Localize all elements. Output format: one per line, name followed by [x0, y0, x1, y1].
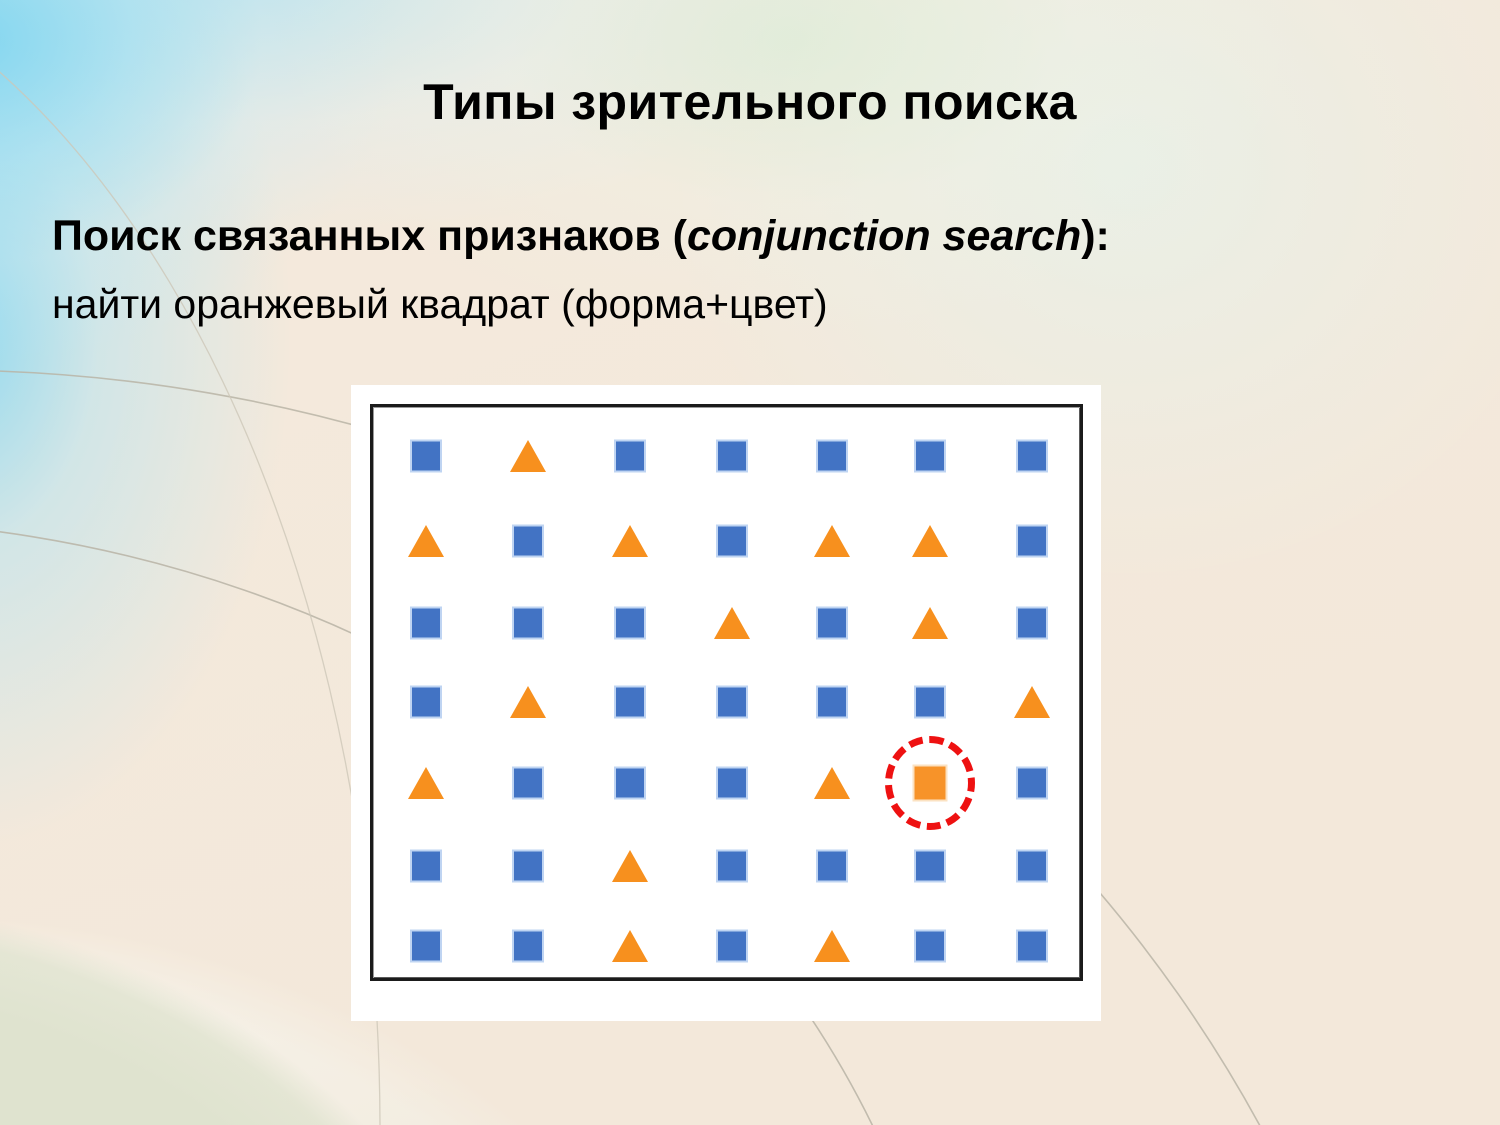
distractor-blue-square-icon[interactable]	[916, 852, 944, 881]
stimulus-panel	[351, 385, 1101, 1021]
distractor-blue-square-icon[interactable]	[718, 932, 746, 961]
stimulus-grid	[373, 407, 1080, 978]
stimulus-frame	[370, 404, 1083, 981]
distractor-blue-square-icon[interactable]	[412, 932, 440, 961]
distractor-blue-square-icon[interactable]	[514, 932, 542, 961]
prompt-line-1-prefix: Поиск связанных признаков (	[52, 212, 687, 260]
distractor-orange-triangle-icon[interactable]	[814, 930, 850, 962]
distractor-blue-square-icon[interactable]	[514, 852, 542, 881]
prompt-line-1: Поиск связанных признаков (conjunction s…	[52, 210, 1402, 264]
arc-left	[0, 0, 380, 1125]
distractor-blue-square-icon[interactable]	[818, 442, 846, 471]
distractor-blue-square-icon[interactable]	[412, 442, 440, 471]
distractor-blue-square-icon[interactable]	[514, 527, 542, 556]
distractor-blue-square-icon[interactable]	[616, 442, 644, 471]
distractor-blue-square-icon[interactable]	[514, 769, 542, 798]
prompt-line-1-emphasis: conjunction search	[687, 212, 1081, 260]
distractor-blue-square-icon[interactable]	[1018, 442, 1046, 471]
distractor-orange-triangle-icon[interactable]	[408, 525, 444, 557]
slide-canvas: Типы зрительного поиска Поиск связанных …	[0, 0, 1500, 1125]
distractor-blue-square-icon[interactable]	[718, 688, 746, 717]
distractor-blue-square-icon[interactable]	[818, 609, 846, 638]
prompt-line-2: найти оранжевый квадрат (форма+цвет)	[52, 278, 1402, 331]
distractor-blue-square-icon[interactable]	[718, 852, 746, 881]
distractor-blue-square-icon[interactable]	[514, 609, 542, 638]
distractor-orange-triangle-icon[interactable]	[408, 767, 444, 799]
distractor-blue-square-icon[interactable]	[718, 442, 746, 471]
distractor-blue-square-icon[interactable]	[916, 442, 944, 471]
distractor-blue-square-icon[interactable]	[616, 688, 644, 717]
distractor-orange-triangle-icon[interactable]	[510, 686, 546, 718]
distractor-blue-square-icon[interactable]	[1018, 609, 1046, 638]
distractor-orange-triangle-icon[interactable]	[714, 607, 750, 639]
distractor-orange-triangle-icon[interactable]	[814, 767, 850, 799]
prompt-line-1-suffix: ):	[1081, 212, 1110, 260]
distractor-orange-triangle-icon[interactable]	[612, 930, 648, 962]
distractor-blue-square-icon[interactable]	[412, 609, 440, 638]
distractor-orange-triangle-icon[interactable]	[814, 525, 850, 557]
distractor-blue-square-icon[interactable]	[1018, 527, 1046, 556]
distractor-blue-square-icon[interactable]	[718, 527, 746, 556]
distractor-orange-triangle-icon[interactable]	[912, 607, 948, 639]
distractor-orange-triangle-icon[interactable]	[912, 525, 948, 557]
distractor-blue-square-icon[interactable]	[916, 932, 944, 961]
distractor-blue-square-icon[interactable]	[412, 852, 440, 881]
distractor-orange-triangle-icon[interactable]	[612, 850, 648, 882]
distractor-orange-triangle-icon[interactable]	[510, 440, 546, 472]
distractor-blue-square-icon[interactable]	[1018, 769, 1046, 798]
distractor-blue-square-icon[interactable]	[616, 769, 644, 798]
distractor-blue-square-icon[interactable]	[412, 688, 440, 717]
distractor-blue-square-icon[interactable]	[916, 688, 944, 717]
target-orange-square-icon[interactable]	[915, 767, 946, 800]
distractor-blue-square-icon[interactable]	[1018, 932, 1046, 961]
distractor-blue-square-icon[interactable]	[718, 769, 746, 798]
page-title: Типы зрительного поиска	[0, 76, 1500, 129]
distractor-blue-square-icon[interactable]	[818, 852, 846, 881]
distractor-orange-triangle-icon[interactable]	[612, 525, 648, 557]
distractor-blue-square-icon[interactable]	[818, 688, 846, 717]
body-text-block: Поиск связанных признаков (conjunction s…	[52, 210, 1402, 331]
distractor-blue-square-icon[interactable]	[1018, 852, 1046, 881]
distractor-orange-triangle-icon[interactable]	[1014, 686, 1050, 718]
distractor-blue-square-icon[interactable]	[616, 609, 644, 638]
